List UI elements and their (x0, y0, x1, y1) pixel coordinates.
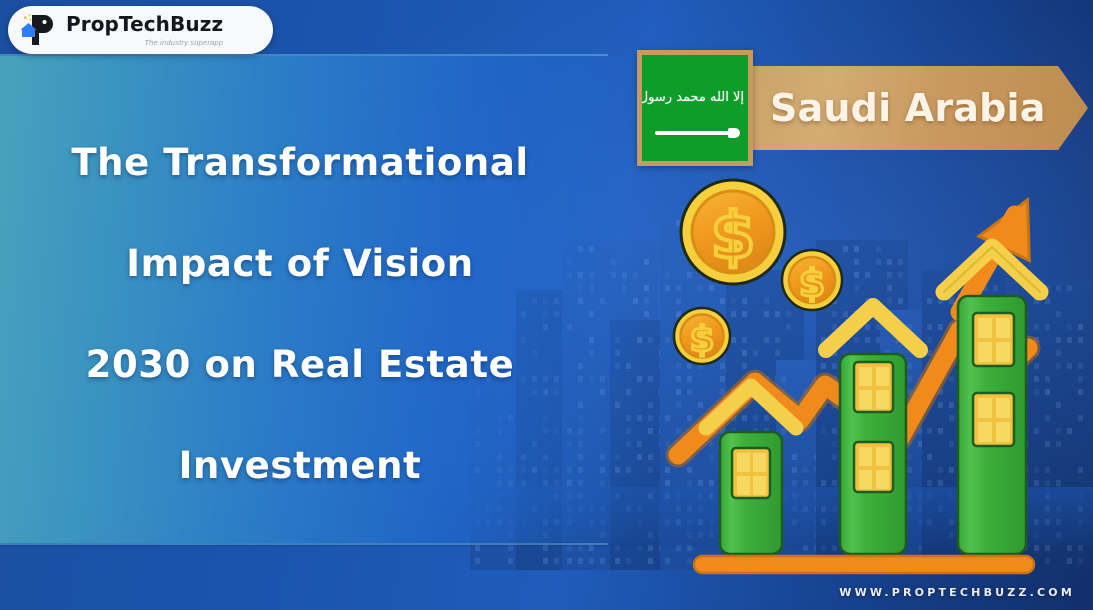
country-ribbon: Saudi Arabia (714, 66, 1088, 150)
p-house-logo-icon (18, 11, 60, 49)
skyline-window (648, 428, 653, 434)
brand-name: PropTechBuzz (66, 14, 223, 34)
skyline-window (648, 454, 653, 460)
orange-base-bar (694, 556, 1034, 573)
growth-chart-houses-illustration: $ $ $ (660, 170, 1093, 590)
panel-top-edge (0, 54, 608, 56)
headline-line-2: Impact of Vision (0, 213, 600, 314)
sword-emblem-icon (655, 131, 733, 135)
svg-text:$: $ (711, 200, 756, 274)
skyline-window (600, 558, 605, 564)
svg-text:$: $ (690, 320, 714, 360)
brand-tagline: The industry superapp (66, 39, 223, 47)
dollar-coin-medium-icon: $ (782, 250, 842, 310)
house-bar-large (944, 247, 1040, 554)
social-media-banner: PropTechBuzz The industry superapp The T… (0, 0, 1093, 610)
skyline-window (554, 558, 559, 564)
skyline-window (567, 558, 572, 564)
skyline-window (508, 558, 513, 564)
skyline-window (626, 558, 631, 564)
website-url: WWW.PROPTECHBUZZ.COM (839, 586, 1075, 599)
skyline-window (589, 558, 594, 564)
headline-line-3: 2030 on Real Estate (0, 314, 600, 415)
skyline-window (648, 415, 653, 421)
svg-text:$: $ (799, 262, 825, 305)
house-bar-medium (826, 306, 920, 554)
skyline-window (615, 558, 620, 564)
skyline-window (648, 402, 653, 408)
country-label: Saudi Arabia (770, 86, 1046, 130)
brand-logo[interactable]: PropTechBuzz The industry superapp (8, 6, 273, 54)
skyline-window (644, 285, 649, 291)
skyline-window (644, 298, 649, 304)
skyline-window (543, 558, 548, 564)
skyline-window (475, 558, 480, 564)
skyline-window (644, 259, 649, 265)
skyline-window (648, 376, 653, 382)
skyline-window (644, 311, 649, 317)
headline-line-1: The Transformational (0, 112, 600, 213)
saudi-arabia-flag-icon: لا إله إلا الله محمد رسول الله (637, 50, 753, 166)
skyline-window (648, 337, 653, 343)
dollar-coin-small-icon: $ (674, 308, 730, 364)
panel-bottom-edge (0, 543, 608, 545)
flag-inscription: لا إله إلا الله محمد رسول الله (649, 85, 741, 109)
house-bar-small (706, 386, 796, 554)
skyline-window (578, 558, 583, 564)
skyline-window (648, 467, 653, 473)
headline-line-4: Investment (0, 415, 600, 516)
dollar-coin-large-icon: $ (681, 180, 785, 284)
skyline-window (648, 558, 653, 564)
page-title: The Transformational Impact of Vision 20… (0, 112, 600, 516)
